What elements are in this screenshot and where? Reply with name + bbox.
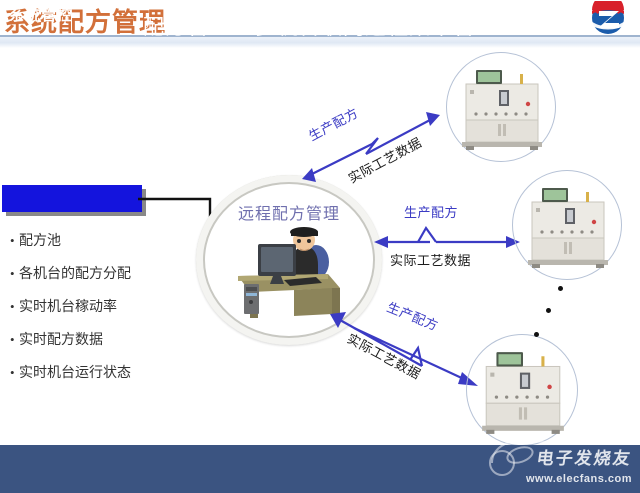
production-equipment-icon	[522, 180, 614, 272]
list-item-label: 配方池	[19, 230, 61, 250]
ellipsis-dot	[534, 332, 539, 337]
list-item-label: 实时配方数据	[19, 329, 103, 349]
bullet-icon: •	[10, 299, 19, 315]
list-item: • 实时机台运行状态	[10, 362, 200, 382]
production-equipment-icon	[456, 62, 548, 154]
ellipsis-dot	[546, 308, 551, 313]
slide-canvas: 系统配方管理 系统管控 • 配方池 • 各机台的配方分配 • 实时机台稼动率 •…	[0, 0, 640, 493]
flow-middle-arrows: 生产配方 实际工艺数据	[372, 200, 522, 276]
system-control-box	[2, 185, 142, 212]
machine-bottom	[466, 334, 578, 446]
bullet-icon: •	[10, 233, 19, 249]
machine-middle	[512, 170, 622, 280]
flow-top-arrows: 生产配方 实际工艺数据	[300, 98, 468, 184]
list-item-label: 实时机台稼动率	[19, 296, 117, 316]
watermark-cn-text: 电子发烧友	[535, 444, 634, 469]
list-item: • 实时机台稼动率	[10, 296, 200, 316]
ellipsis-dot	[558, 286, 563, 291]
flow-middle-send-label: 生产配方	[404, 202, 458, 221]
flow-middle-return-label: 实际工艺数据	[390, 250, 471, 269]
list-item-label: 实时机台运行状态	[19, 362, 131, 382]
flow-top-arrow-svg	[300, 98, 468, 184]
bullet-icon: •	[10, 332, 19, 348]
watermark-url-text: www.elecfans.com	[526, 473, 632, 485]
more-machines-ellipsis	[528, 284, 568, 344]
bullet-icon: •	[10, 266, 19, 282]
production-equipment-icon	[476, 344, 570, 438]
machine-top	[446, 52, 556, 162]
list-item-label: 各机台的配方分配	[19, 263, 131, 283]
list-item: • 各机台的配方分配	[10, 263, 200, 283]
bullet-icon: •	[10, 365, 19, 381]
list-item: • 实时配方数据	[10, 329, 200, 349]
footer-title: 配方管理---多机台联网远程集中管理	[0, 11, 640, 41]
